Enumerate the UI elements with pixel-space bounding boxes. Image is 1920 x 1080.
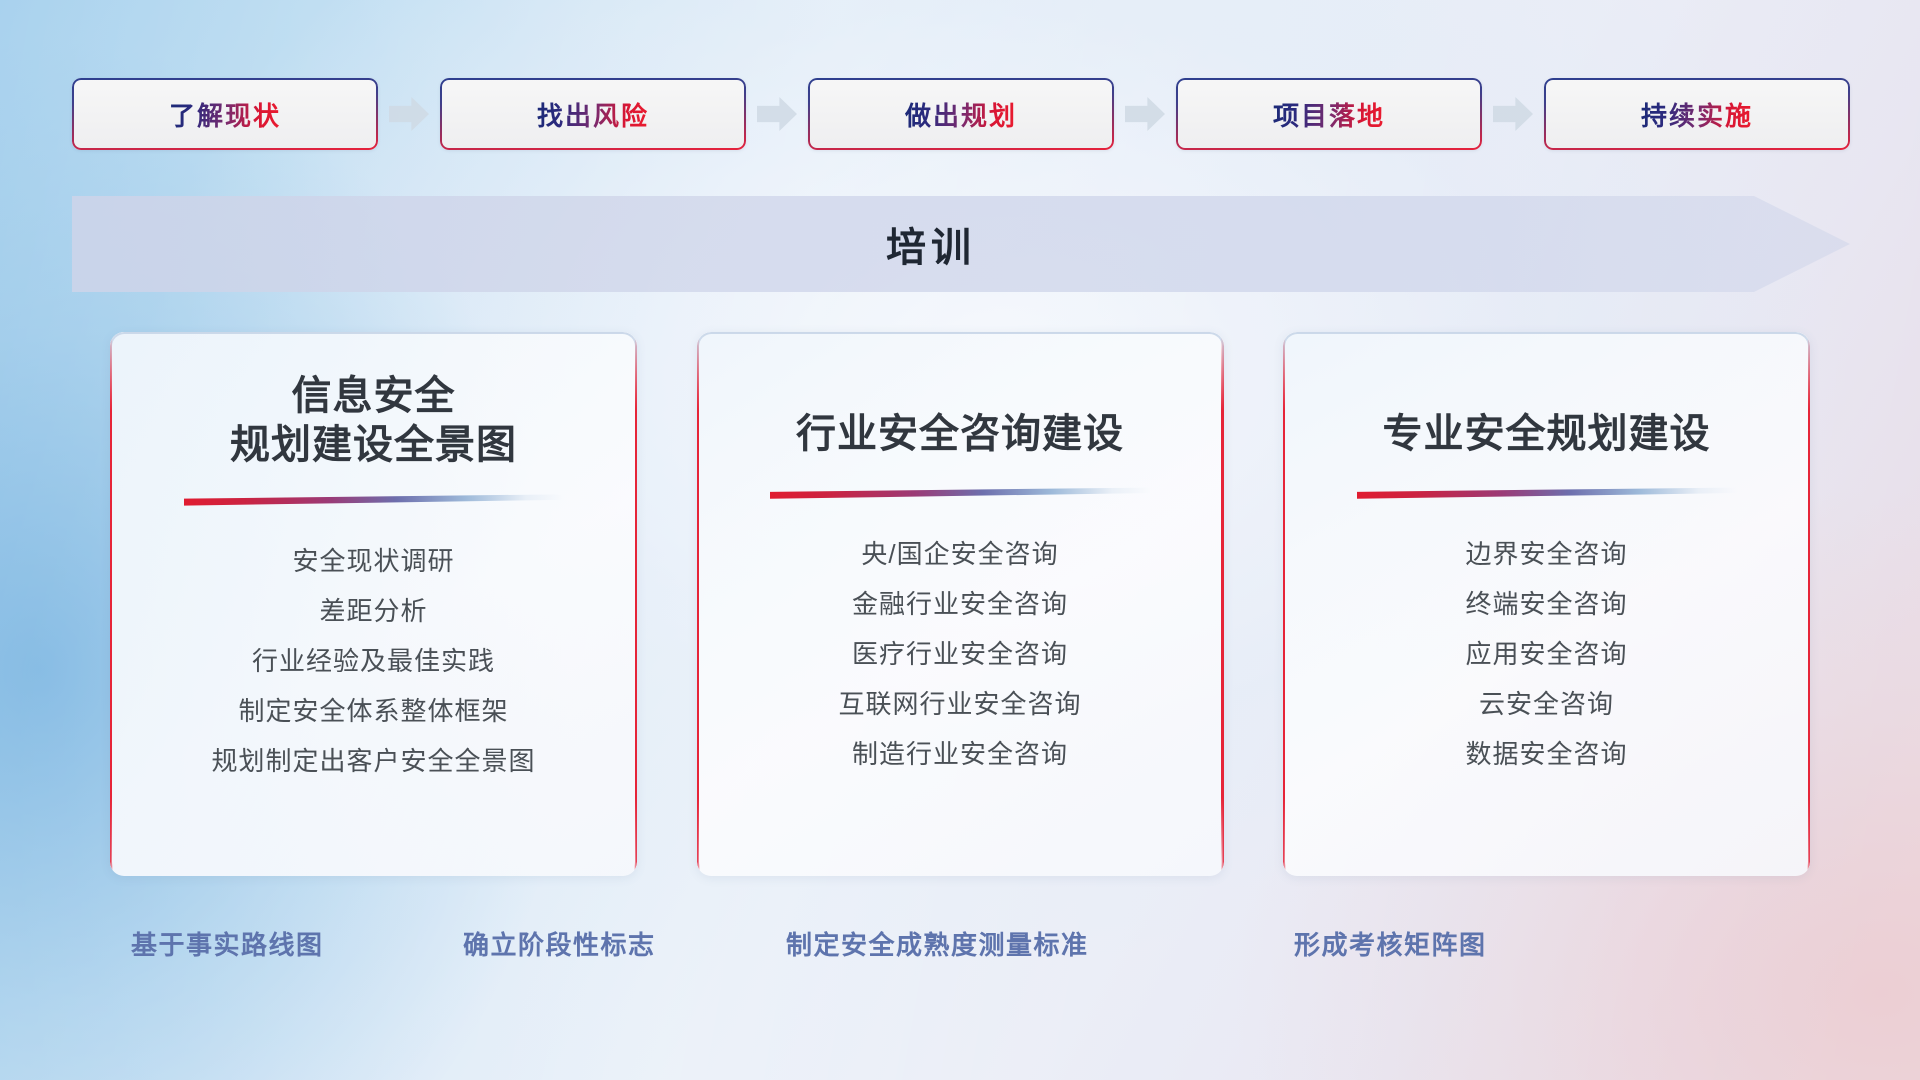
list-item: 制造行业安全咨询 xyxy=(852,729,1068,779)
footer-label-maturity: 制定安全成熟度测量标准 xyxy=(786,925,1089,962)
card-list: 边界安全咨询 终端安全咨询 应用安全咨询 云安全咨询 数据安全咨询 xyxy=(1283,529,1810,779)
card-divider xyxy=(184,494,564,506)
step-label-4: 持续实施 xyxy=(1641,96,1753,133)
card-industry-security-consulting[interactable]: 行业安全咨询建设 央/国企安全咨询 金融行业安全咨询 医疗行业安全咨询 互联网行… xyxy=(697,332,1224,876)
list-item: 行业经验及最佳实践 xyxy=(252,636,495,686)
list-item: 制定安全体系整体框架 xyxy=(238,686,508,736)
chevron-right-icon xyxy=(757,97,797,131)
card-list: 央/国企安全咨询 金融行业安全咨询 医疗行业安全咨询 互联网行业安全咨询 制造行… xyxy=(697,529,1224,779)
card-title: 行业安全咨询建设 xyxy=(796,410,1124,459)
list-item: 差距分析 xyxy=(319,586,427,636)
step-box-2[interactable]: 做出规划 xyxy=(808,78,1114,150)
card-left-accent-bar xyxy=(697,335,699,873)
chevron-right-icon xyxy=(389,97,429,131)
card-title: 专业安全规划建设 xyxy=(1383,410,1711,459)
list-item: 金融行业安全咨询 xyxy=(852,579,1068,629)
list-item: 云安全咨询 xyxy=(1479,679,1614,729)
list-item: 应用安全咨询 xyxy=(1465,629,1627,679)
step-label-1: 找出风险 xyxy=(537,96,649,133)
step-label-3: 项目落地 xyxy=(1273,96,1385,133)
chevron-right-icon xyxy=(1493,97,1533,131)
footer-label-milestone: 确立阶段性标志 xyxy=(463,925,656,962)
step-box-1[interactable]: 找出风险 xyxy=(440,78,746,150)
step-label-2: 做出规划 xyxy=(905,96,1017,133)
list-item: 央/国企安全咨询 xyxy=(861,529,1058,579)
list-item: 终端安全咨询 xyxy=(1465,579,1627,629)
card-divider xyxy=(770,487,1150,499)
step-box-0[interactable]: 了解现状 xyxy=(72,78,378,150)
card-professional-security-planning[interactable]: 专业安全规划建设 边界安全咨询 终端安全咨询 应用安全咨询 云安全咨询 数据安全… xyxy=(1283,332,1810,876)
process-step-bar: 了解现状 找出风险 做出规划 项目落地 持续实施 xyxy=(72,78,1850,150)
footer-label-matrix: 形成考核矩阵图 xyxy=(1294,925,1487,962)
card-divider xyxy=(1357,487,1737,499)
card-right-accent-bar xyxy=(635,335,637,873)
card-title: 信息安全 规划建设全景图 xyxy=(230,372,517,470)
chevron-right-icon xyxy=(1125,97,1165,131)
training-banner-label: 培训 xyxy=(886,215,976,273)
footer-label-roadmap: 基于事实路线图 xyxy=(131,925,324,962)
step-box-3[interactable]: 项目落地 xyxy=(1176,78,1482,150)
card-right-accent-bar xyxy=(1808,335,1810,873)
footer-label-row: 基于事实路线图 确立阶段性标志 制定安全成熟度测量标准 形成考核矩阵图 xyxy=(0,925,1920,969)
list-item: 安全现状调研 xyxy=(292,536,454,586)
step-box-4[interactable]: 持续实施 xyxy=(1544,78,1850,150)
step-label-0: 了解现状 xyxy=(169,96,281,133)
card-group: 信息安全 规划建设全景图 安全现状调研 差距分析 行业经验及最佳实践 制定安全体… xyxy=(110,332,1810,892)
list-item: 互联网行业安全咨询 xyxy=(838,679,1081,729)
list-item: 数据安全咨询 xyxy=(1465,729,1627,779)
list-item: 医疗行业安全咨询 xyxy=(852,629,1068,679)
training-banner: 培训 xyxy=(72,196,1850,292)
card-information-security-blueprint[interactable]: 信息安全 规划建设全景图 安全现状调研 差距分析 行业经验及最佳实践 制定安全体… xyxy=(110,332,637,876)
card-list: 安全现状调研 差距分析 行业经验及最佳实践 制定安全体系整体框架 规划制定出客户… xyxy=(110,536,637,786)
card-right-accent-bar xyxy=(1221,335,1223,873)
list-item: 规划制定出客户安全全景图 xyxy=(211,736,535,786)
list-item: 边界安全咨询 xyxy=(1465,529,1627,579)
